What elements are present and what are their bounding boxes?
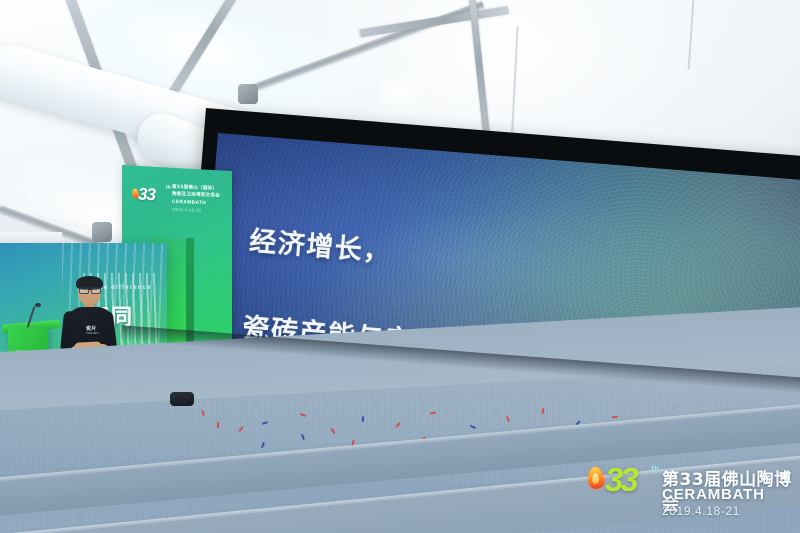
watermark-logo: 33 th 第33届佛山陶博会 CERAMBATH 2019.4.18-21 <box>588 459 796 521</box>
watermark-number: 33 <box>605 461 636 499</box>
banner-title-cn: 第33届佛山（国际） 陶瓷及卫浴博览交易会 <box>172 185 226 200</box>
slide-line-1: 经济增长， <box>248 220 800 309</box>
shirt-logo-en: CERAMIC <box>86 332 102 335</box>
glasses-bridge <box>79 287 100 294</box>
confetti-piece <box>217 422 219 428</box>
banner-logo-number: 33 <box>138 185 155 206</box>
truss-joint-node <box>238 84 258 104</box>
banner-title-en: CERAMBATH <box>172 200 206 206</box>
truss-joint-node <box>92 222 112 242</box>
banner-logo: 33 th 第33届佛山（国际） 陶瓷及卫浴博览交易会 CERAMBATH 20… <box>132 178 224 222</box>
watermark-title-en: CERAMBATH <box>662 486 765 503</box>
shirt-logo-cn: 瓷片 <box>86 325 102 332</box>
floor-bag <box>170 392 194 406</box>
watermark-date: 2019.4.18-21 <box>662 504 740 518</box>
flame-inner-icon <box>592 473 599 484</box>
microphone-head-icon <box>35 303 41 307</box>
speaker-shirt-logo: 瓷片 CERAMIC <box>86 325 102 334</box>
conference-stage-photo: 材易采 经济增长， 瓷砖产能与产量也会同步增长 吗？ 33 th 第33届佛山（… <box>0 0 800 533</box>
banner-date: 2019.4.18-21 <box>172 207 201 213</box>
banner-logo-ordinal: th <box>166 185 171 191</box>
banner-title-cn-line2: 陶瓷及卫浴博览交易会 <box>172 191 226 200</box>
watermark-ordinal: th <box>651 464 660 474</box>
